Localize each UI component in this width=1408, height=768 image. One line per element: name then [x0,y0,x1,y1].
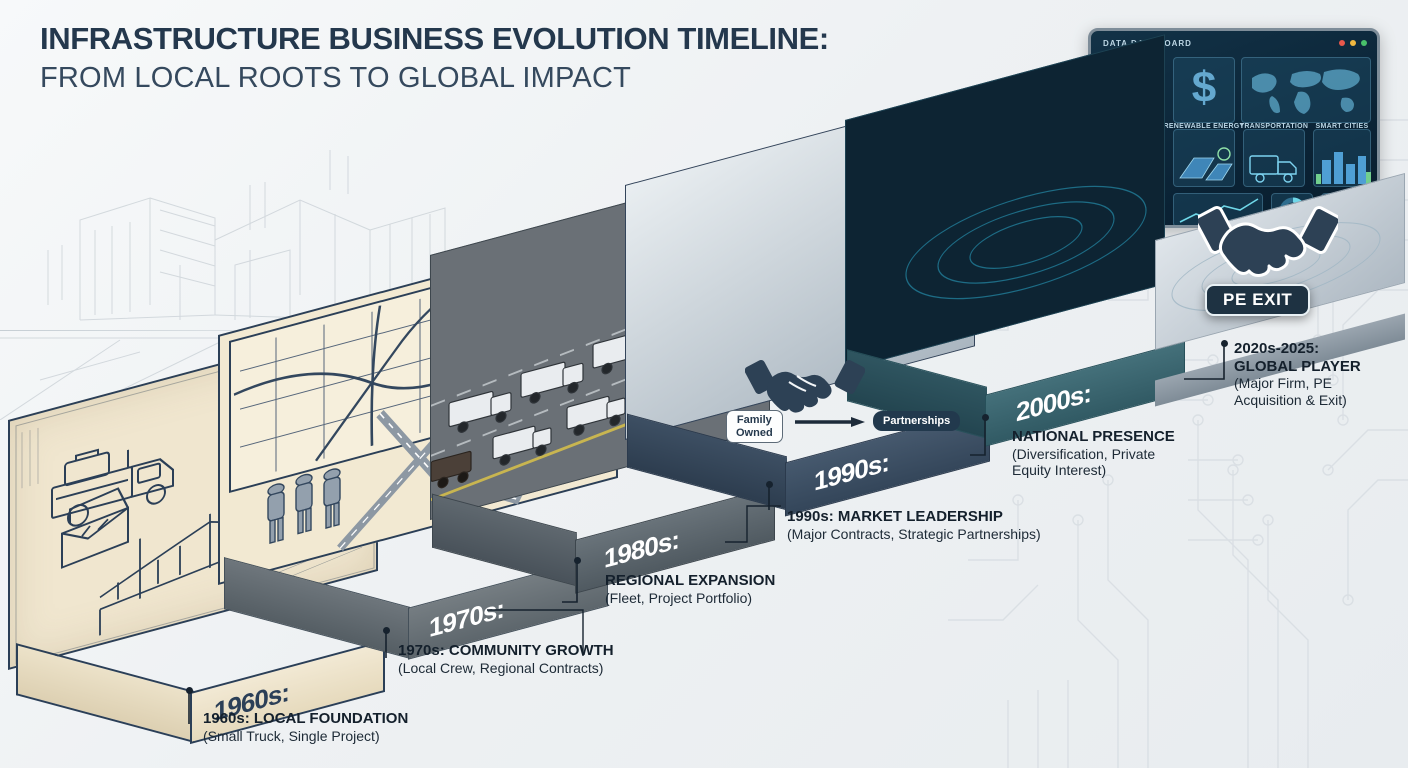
family-owned-line-2: Owned [736,427,773,439]
title-sub-line: FROM LOCAL ROOTS TO GLOBAL IMPACT [40,61,829,96]
callout-sub2-2000s: Equity Interest) [1012,462,1212,479]
callout-sub-2000s: (Diversification, Private [1012,446,1212,463]
callout-title-2000s: NATIONAL PRESENCE [1012,428,1212,446]
callout-leader-2000s [968,417,1008,463]
callout-dot-1990s [766,481,773,488]
acquisition-glow-2000s [846,35,1165,370]
callout-title-1980s: REGIONAL EXPANSION [605,572,775,590]
callout-1990s: 1990s: MARKET LEADERSHIP (Major Contract… [787,508,1041,542]
callout-sub-1980s: (Fleet, Project Portfolio) [605,590,775,607]
callout-dot-2020s [1221,340,1228,347]
callout-2020s: 2020s-2025: GLOBAL PLAYER (Major Firm, P… [1234,340,1394,409]
callout-dot-1980s [574,557,581,564]
toolbox-sketch [62,486,128,568]
callout-title-1990s: 1990s: MARKET LEADERSHIP [787,508,1041,526]
callout-sub-1990s: (Major Contracts, Strategic Partnerships… [787,526,1041,543]
callout-leader-1980s [560,560,600,610]
handshake-icon [1198,196,1338,288]
stage-slab-2000s[interactable]: 2000s: [845,120,1165,430]
transition-arrow-icon [795,417,867,427]
callout-title-1970s: 1970s: COMMUNITY GROWTH [398,642,614,660]
slab-side-1980s [432,494,577,587]
callout-dot-1960s [186,687,193,694]
title-main-line: INFRASTRUCTURE BUSINESS EVOLUTION TIMELI… [40,22,829,57]
family-owned-line-1: Family [737,414,772,426]
callout-1970s: 1970s: COMMUNITY GROWTH (Local Crew, Reg… [398,642,614,676]
callout-title-1960s: 1960s: LOCAL FOUNDATION [203,710,408,728]
callout-title-2020s: 2020s-2025: [1234,340,1394,358]
page-title: INFRASTRUCTURE BUSINESS EVOLUTION TIMELI… [40,22,829,96]
pe-exit-badge: PE EXIT [1205,284,1310,316]
callout-dot-2000s [982,414,989,421]
callout-title2-2020s: GLOBAL PLAYER [1234,358,1394,376]
callout-sub-1960s: (Small Truck, Single Project) [203,728,408,745]
slab-side-1960s [16,643,194,743]
slab-surface-2000s [845,34,1165,370]
callout-dot-1970s [383,627,390,634]
callout-2000s: NATIONAL PRESENCE (Diversification, Priv… [1012,428,1212,479]
callout-1960s: 1960s: LOCAL FOUNDATION (Small Truck, Si… [203,710,408,744]
family-owned-chip[interactable]: Family Owned [726,410,783,443]
callout-sub-1970s: (Local Crew, Regional Contracts) [398,660,614,677]
callout-sub-2020s: (Major Firm, PE [1234,375,1394,392]
callout-sub2-2020s: Acquisition & Exit) [1234,392,1394,409]
handshake-icon [745,352,865,416]
callout-1980s: REGIONAL EXPANSION (Fleet, Project Portf… [605,572,775,606]
callout-leader-1990s [766,484,786,512]
partnerships-chip[interactable]: Partnerships [873,411,960,431]
